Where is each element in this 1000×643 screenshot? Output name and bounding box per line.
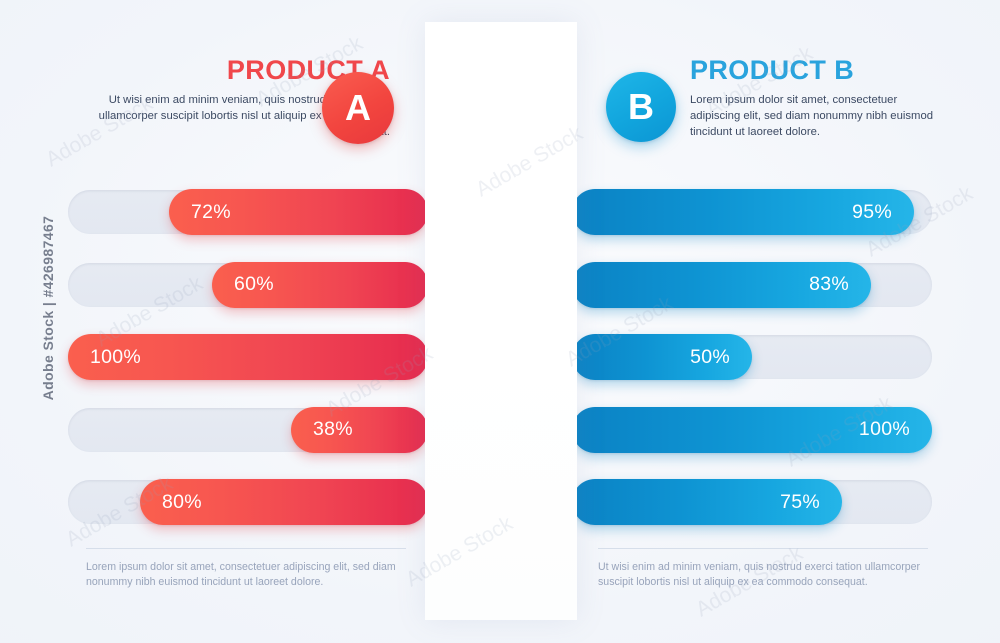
bar-fill-product-b[interactable]: 75% <box>572 479 842 525</box>
product-b-badge: B <box>606 72 676 142</box>
bar-value-product-a: 100% <box>90 346 141 369</box>
footer-divider-left <box>86 548 406 549</box>
bar-value-product-b: 50% <box>690 346 730 369</box>
bar-fill-product-a[interactable]: 38% <box>291 407 428 453</box>
bar-value-product-b: 75% <box>780 491 820 514</box>
infographic-canvas: Adobe Stock Adobe Stock Adobe Stock Adob… <box>0 0 1000 643</box>
bar-value-product-a: 60% <box>234 273 274 296</box>
bar-value-product-b: 83% <box>809 273 849 296</box>
bar-fill-product-a[interactable]: 72% <box>169 189 428 235</box>
product-a-footer: Lorem ipsum dolor sit amet, consectetuer… <box>86 548 406 591</box>
bar-fill-product-b[interactable]: 83% <box>572 262 871 308</box>
bar-value-product-b: 95% <box>852 201 892 224</box>
product-a-footer-text: Lorem ipsum dolor sit amet, consectetuer… <box>86 560 406 591</box>
footer-divider-right <box>598 548 928 549</box>
bar-fill-product-a[interactable]: 80% <box>140 479 428 525</box>
bar-fill-product-a[interactable]: 60% <box>212 262 428 308</box>
product-a-badge: A <box>322 72 394 144</box>
bar-fill-product-b[interactable]: 95% <box>572 189 914 235</box>
bar-value-product-a: 72% <box>191 201 231 224</box>
